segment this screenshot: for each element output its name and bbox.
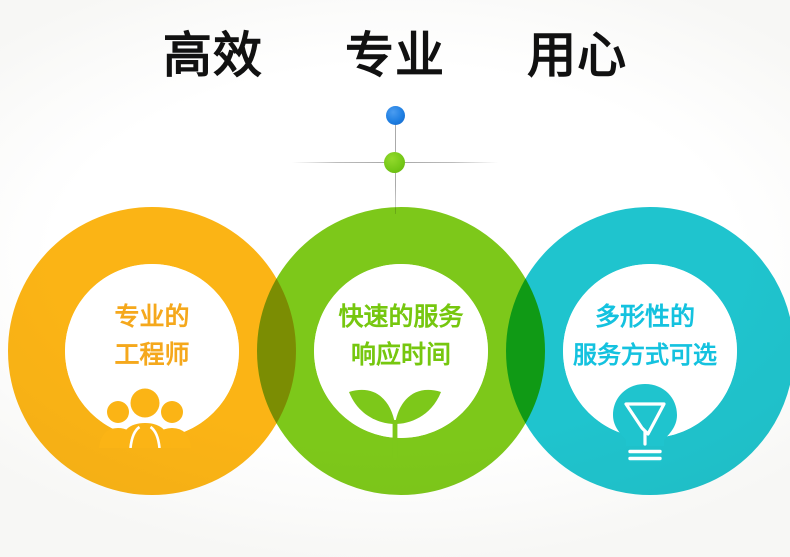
infographic-canvas: 高效 专业 用心 专业的 工程师 <box>0 0 790 557</box>
label-engineers-line2: 工程师 <box>37 336 267 374</box>
sprout-plant-icon <box>337 380 453 458</box>
label-service-modes: 多形性的 服务方式可选 <box>530 298 760 374</box>
label-engineers: 专业的 工程师 <box>37 298 267 374</box>
label-response-time: 快速的服务 响应时间 <box>286 298 516 374</box>
label-engineers-line1: 专业的 <box>37 298 267 336</box>
lightbulb-icon <box>604 382 686 462</box>
label-service-modes-line2: 服务方式可选 <box>530 336 760 374</box>
people-group-icon <box>95 386 195 448</box>
label-response-time-line1: 快速的服务 <box>286 298 516 336</box>
label-response-time-line2: 响应时间 <box>286 336 516 374</box>
label-service-modes-line1: 多形性的 <box>530 298 760 336</box>
